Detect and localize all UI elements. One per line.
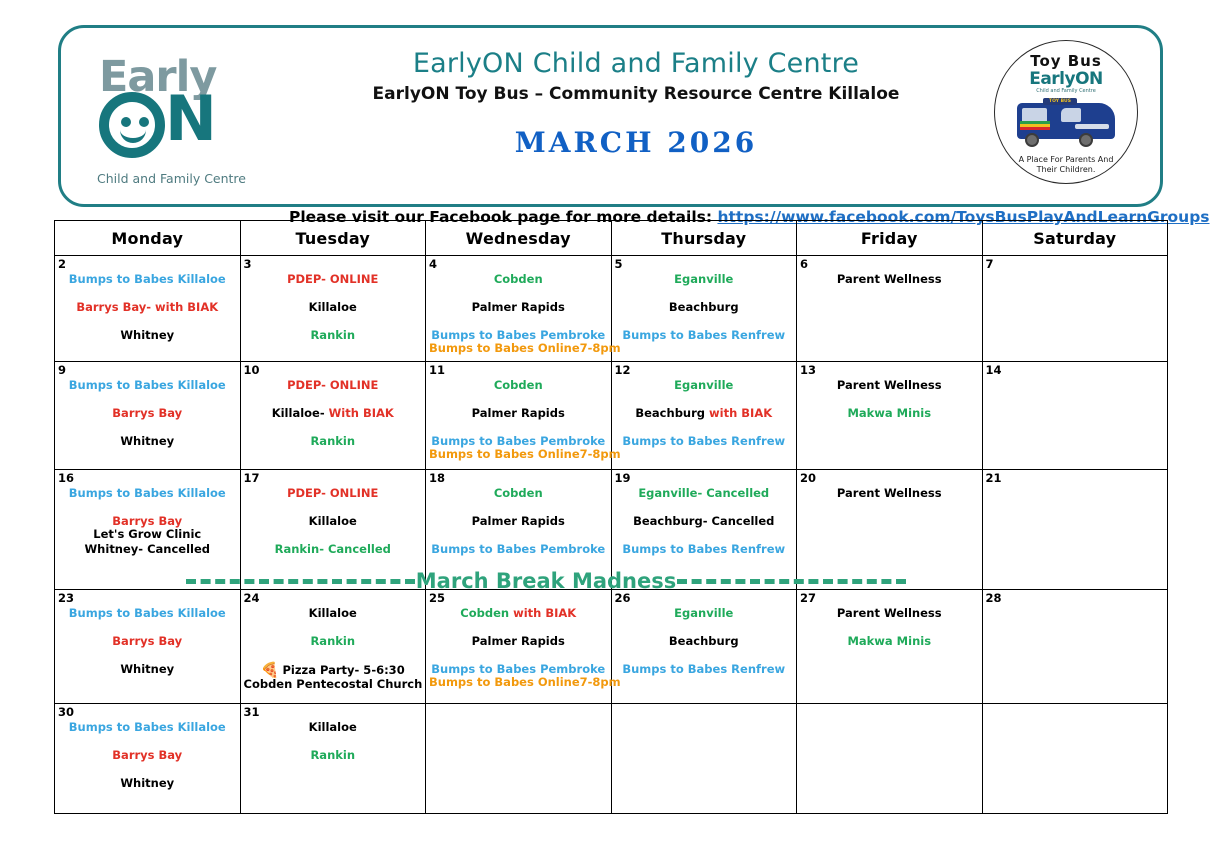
smiley-mouth-icon [120, 124, 146, 143]
calendar-event[interactable]: Parent Wellness [800, 379, 979, 392]
day-number: 12 [615, 364, 794, 377]
calendar-event[interactable]: Bumps to Babes Renfrew [615, 435, 794, 448]
calendar-event[interactable]: Bumps to Babes Renfrew [615, 329, 794, 342]
calendar-day-cell[interactable]: 28 [982, 590, 1168, 704]
toybus-logo-title: Toy Bus [995, 52, 1137, 70]
calendar-day-cell[interactable]: 7 [982, 256, 1168, 362]
calendar-header-row: MondayTuesdayWednesdayThursdayFridaySatu… [55, 221, 1168, 256]
calendar-event[interactable]: PDEP- ONLINE [244, 273, 423, 286]
calendar-event[interactable]: Killaloe [244, 515, 423, 528]
calendar-event[interactable]: Beachburg [615, 301, 794, 314]
day-events: KillaloeRankin🍕Pizza Party- 5-6:30Cobden… [244, 607, 423, 691]
day-number: 31 [244, 706, 423, 719]
toybus-logo: Toy Bus EarlyON Child and Family Centre … [994, 40, 1138, 184]
calendar-day-cell[interactable]: 14 [982, 362, 1168, 470]
calendar-event[interactable]: Palmer Rapids [429, 301, 608, 314]
toybus-logo-footer: A Place For Parents And Their Children. [995, 155, 1137, 175]
event-text-biak: With BIAK [329, 406, 394, 420]
day-number: 13 [800, 364, 979, 377]
toybus-logo-brand: EarlyON [995, 69, 1137, 89]
calendar-event[interactable]: Palmer Rapids [429, 515, 608, 528]
calendar-event[interactable]: Palmer Rapids [429, 635, 608, 648]
day-events: EganvilleBeachburgBumps to Babes Renfrew [615, 607, 794, 676]
calendar-week-row: 2Bumps to Babes KillaloeBarrys Bay- with… [55, 256, 1168, 362]
calendar-day-cell[interactable] [797, 704, 983, 814]
day-number: 2 [58, 258, 237, 271]
month-title: MARCH 2026 [241, 126, 1031, 159]
calendar-event[interactable]: 🍕Pizza Party- 5-6:30 [244, 663, 423, 678]
day-number: 10 [244, 364, 423, 377]
calendar-header-tuesday: Tuesday [240, 221, 426, 256]
day-number: 26 [615, 592, 794, 605]
day-events: Parent Wellness [800, 487, 979, 500]
calendar-event[interactable]: Cobden [429, 487, 608, 500]
calendar-day-cell[interactable]: 18CobdenPalmer RapidsBumps to Babes Pemb… [426, 470, 612, 590]
calendar-day-cell[interactable]: 25Cobden with BIAKPalmer RapidsBumps to … [426, 590, 612, 704]
calendar-event[interactable]: Cobden [429, 379, 608, 392]
calendar-day-cell[interactable]: 27Parent WellnessMakwa Minis [797, 590, 983, 704]
day-number: 28 [986, 592, 1165, 605]
calendar-day-cell[interactable]: 3PDEP- ONLINEKillaloeRankin [240, 256, 426, 362]
calendar-event[interactable]: Bumps to Babes Pembroke [429, 543, 608, 556]
day-number: 16 [58, 472, 237, 485]
day-number: 14 [986, 364, 1165, 377]
logo-tagline: Child and Family Centre [97, 171, 246, 186]
calendar-day-cell[interactable]: 2Bumps to Babes KillaloeBarrys Bay- with… [55, 256, 241, 362]
calendar-week-row: 16Bumps to Babes KillaloeBarrys BayLet's… [55, 470, 1168, 590]
event-text-biak: with BIAK [709, 406, 772, 420]
calendar-header-saturday: Saturday [982, 221, 1168, 256]
day-number: 25 [429, 592, 608, 605]
calendar-event[interactable]: Beachburg [615, 635, 794, 648]
calendar-event[interactable]: Whitney [58, 329, 237, 342]
page-subtitle: EarlyON Toy Bus – Community Resource Cen… [241, 82, 1031, 106]
calendar-event[interactable]: Bumps to Babes Online7-8pm [429, 676, 608, 689]
calendar-event[interactable]: Bumps to Babes Killaloe [58, 487, 237, 500]
calendar-event[interactable]: Eganville [615, 607, 794, 620]
calendar-event[interactable]: Bumps to Babes Killaloe [58, 273, 237, 286]
calendar-table: MondayTuesdayWednesdayThursdayFridaySatu… [54, 220, 1168, 814]
calendar-day-cell[interactable]: 24KillaloeRankin🍕Pizza Party- 5-6:30Cobd… [240, 590, 426, 704]
event-text-main: Cobden [460, 606, 513, 620]
day-events: CobdenPalmer RapidsBumps to Babes Pembro… [429, 273, 608, 355]
calendar-event[interactable]: Rankin- Cancelled [244, 543, 423, 556]
day-number: 24 [244, 592, 423, 605]
title-block: EarlyON Child and Family Centre EarlyON … [241, 48, 1031, 159]
calendar-event[interactable]: Killaloe [244, 607, 423, 620]
calendar-event[interactable]: Beachburg- Cancelled [615, 515, 794, 528]
day-events: PDEP- ONLINEKillaloeRankin [244, 273, 423, 342]
bus-stripe-red [1020, 127, 1050, 130]
day-events: Parent WellnessMakwa Minis [800, 607, 979, 648]
calendar-event[interactable]: Cobden Pentecostal Church [244, 678, 423, 691]
calendar-day-cell[interactable]: 13Parent WellnessMakwa Minis [797, 362, 983, 470]
calendar-event[interactable]: Eganville [615, 273, 794, 286]
calendar-day-cell[interactable]: 17PDEP- ONLINEKillaloeRankin- Cancelled [240, 470, 426, 590]
calendar-day-cell[interactable]: 12EganvilleBeachburg with BIAKBumps to B… [611, 362, 797, 470]
calendar-event[interactable]: Rankin [244, 435, 423, 448]
calendar-event[interactable]: Killaloe [244, 301, 423, 314]
calendar-day-cell[interactable]: 21 [982, 470, 1168, 590]
toybus-logo-caption: Child and Family Centre [995, 88, 1137, 94]
day-events: Parent Wellness [800, 273, 979, 286]
event-text-main: Killaloe- [272, 406, 329, 420]
toybus-footer-line1: A Place For Parents And [995, 155, 1137, 165]
calendar-week-row: 30Bumps to Babes KillaloeBarrys BayWhitn… [55, 704, 1168, 814]
day-number: 11 [429, 364, 608, 377]
calendar-event[interactable]: Barrys Bay [58, 749, 237, 762]
calendar-day-cell[interactable]: 9Bumps to Babes KillaloeBarrys BayWhitne… [55, 362, 241, 470]
calendar-event[interactable]: Barrys Bay- with BIAK [58, 301, 237, 314]
calendar-event[interactable]: Cobden with BIAK [429, 607, 608, 620]
calendar-event[interactable]: Whitney- Cancelled [58, 543, 237, 556]
day-events: Cobden with BIAKPalmer RapidsBumps to Ba… [429, 607, 608, 689]
calendar-event[interactable]: Bumps to Babes Renfrew [615, 663, 794, 676]
calendar-event[interactable]: Rankin [244, 749, 423, 762]
day-events: Eganville- CancelledBeachburg- Cancelled… [615, 487, 794, 556]
bus-roof-sign: TOY BUS [1043, 98, 1077, 105]
bus-wheel-front [1079, 133, 1093, 147]
calendar-event[interactable]: Eganville [615, 379, 794, 392]
day-number: 5 [615, 258, 794, 271]
calendar-event[interactable]: Barrys Bay [58, 635, 237, 648]
day-number: 23 [58, 592, 237, 605]
day-events: EganvilleBeachburg with BIAKBumps to Bab… [615, 379, 794, 448]
calendar-day-cell[interactable] [611, 704, 797, 814]
calendar-day-cell[interactable]: 30Bumps to Babes KillaloeBarrys BayWhitn… [55, 704, 241, 814]
bus-bumper [1075, 124, 1109, 129]
calendar-event[interactable]: Rankin [244, 329, 423, 342]
calendar-header-thursday: Thursday [611, 221, 797, 256]
calendar-day-cell[interactable]: 5EganvilleBeachburgBumps to Babes Renfre… [611, 256, 797, 362]
day-number: 17 [244, 472, 423, 485]
calendar-event[interactable]: Whitney [58, 777, 237, 790]
day-events: KillaloeRankin [244, 721, 423, 762]
calendar-event[interactable]: Whitney [58, 435, 237, 448]
day-events: Bumps to Babes KillaloeBarrys Bay- with … [58, 273, 237, 342]
bus-icon: TOY BUS [1013, 97, 1119, 149]
calendar-event[interactable]: Let's Grow Clinic [58, 528, 237, 541]
calendar-event[interactable]: Cobden [429, 273, 608, 286]
calendar-day-cell[interactable]: 4CobdenPalmer RapidsBumps to Babes Pembr… [426, 256, 612, 362]
calendar-day-cell[interactable]: 16Bumps to Babes KillaloeBarrys BayLet's… [55, 470, 241, 590]
day-number: 20 [800, 472, 979, 485]
day-events: PDEP- ONLINEKillaloe- With BIAKRankin [244, 379, 423, 448]
smiley-face-icon [99, 92, 165, 158]
calendar-event[interactable]: Parent Wellness [800, 487, 979, 500]
header-banner: Early N Child and Family Centre EarlyON … [58, 25, 1163, 207]
day-events: Bumps to Babes KillaloeBarrys BayLet's G… [58, 487, 237, 556]
day-number: 7 [986, 258, 1165, 271]
day-number: 30 [58, 706, 237, 719]
calendar-week-row: 9Bumps to Babes KillaloeBarrys BayWhitne… [55, 362, 1168, 470]
day-number: 21 [986, 472, 1165, 485]
day-events: Parent WellnessMakwa Minis [800, 379, 979, 420]
calendar-event[interactable]: Rankin [244, 635, 423, 648]
event-text-biak: with BIAK [513, 606, 576, 620]
calendar-header-monday: Monday [55, 221, 241, 256]
calendar-day-cell[interactable]: 11CobdenPalmer RapidsBumps to Babes Pemb… [426, 362, 612, 470]
pizza-icon: 🍕 [261, 663, 280, 678]
calendar-day-cell[interactable]: 19Eganville- CancelledBeachburg- Cancell… [611, 470, 797, 590]
calendar-event[interactable]: Bumps to Babes Renfrew [615, 543, 794, 556]
toybus-footer-line2: Their Children. [995, 165, 1137, 175]
calendar-event[interactable]: PDEP- ONLINE [244, 379, 423, 392]
calendar-event[interactable]: PDEP- ONLINE [244, 487, 423, 500]
day-events: PDEP- ONLINEKillaloeRankin- Cancelled [244, 487, 423, 556]
day-events: Bumps to Babes KillaloeBarrys BayWhitney [58, 379, 237, 448]
day-events: CobdenPalmer RapidsBumps to Babes Pembro… [429, 379, 608, 461]
calendar-event[interactable]: Killaloe [244, 721, 423, 734]
calendar-day-cell[interactable] [426, 704, 612, 814]
calendar-event[interactable]: Beachburg with BIAK [615, 407, 794, 420]
calendar-event[interactable]: Whitney [58, 663, 237, 676]
logo-n-letter: N [165, 88, 217, 150]
page-title: EarlyON Child and Family Centre [241, 48, 1031, 80]
calendar-day-cell[interactable]: 23Bumps to Babes KillaloeBarrys BayWhitn… [55, 590, 241, 704]
calendar-body: 2Bumps to Babes KillaloeBarrys Bay- with… [55, 256, 1168, 814]
calendar-day-cell[interactable]: 6Parent Wellness [797, 256, 983, 362]
bus-window-front [1061, 108, 1081, 122]
calendar-event[interactable]: Bumps to Babes Online7-8pm [429, 448, 608, 461]
calendar-day-cell[interactable]: 31KillaloeRankin [240, 704, 426, 814]
calendar-event[interactable]: Bumps to Babes Killaloe [58, 607, 237, 620]
calendar-event[interactable]: Bumps to Babes Online7-8pm [429, 342, 608, 355]
calendar-event[interactable]: Palmer Rapids [429, 407, 608, 420]
calendar-event[interactable]: Bumps to Babes Killaloe [58, 379, 237, 392]
calendar-event[interactable]: Killaloe- With BIAK [244, 407, 423, 420]
event-text: Pizza Party- 5-6:30 [282, 664, 404, 677]
calendar-day-cell[interactable]: 26EganvilleBeachburgBumps to Babes Renfr… [611, 590, 797, 704]
day-events: Bumps to Babes KillaloeBarrys BayWhitney [58, 607, 237, 676]
event-text-main: Beachburg [635, 406, 709, 420]
day-number: 4 [429, 258, 608, 271]
calendar-event[interactable]: Barrys Bay [58, 407, 237, 420]
day-number: 18 [429, 472, 608, 485]
calendar-day-cell[interactable] [982, 704, 1168, 814]
day-number: 6 [800, 258, 979, 271]
calendar-event[interactable]: Parent Wellness [800, 273, 979, 286]
bus-wheel-rear [1025, 133, 1039, 147]
calendar-event[interactable]: Makwa Minis [800, 407, 979, 420]
calendar-header-friday: Friday [797, 221, 983, 256]
day-number: 19 [615, 472, 794, 485]
calendar-event[interactable]: Bumps to Babes Killaloe [58, 721, 237, 734]
day-number: 3 [244, 258, 423, 271]
calendar-week-row: 23Bumps to Babes KillaloeBarrys BayWhitn… [55, 590, 1168, 704]
calendar-header-wednesday: Wednesday [426, 221, 612, 256]
calendar-event[interactable]: Parent Wellness [800, 607, 979, 620]
calendar-event[interactable]: Makwa Minis [800, 635, 979, 648]
day-number: 27 [800, 592, 979, 605]
calendar-event[interactable]: Eganville- Cancelled [615, 487, 794, 500]
calendar-day-cell[interactable]: 20Parent Wellness [797, 470, 983, 590]
day-number: 9 [58, 364, 237, 377]
day-events: CobdenPalmer RapidsBumps to Babes Pembro… [429, 487, 608, 556]
calendar-day-cell[interactable]: 10PDEP- ONLINEKillaloe- With BIAKRankin [240, 362, 426, 470]
day-events: EganvilleBeachburgBumps to Babes Renfrew [615, 273, 794, 342]
day-events: Bumps to Babes KillaloeBarrys BayWhitney [58, 721, 237, 790]
bus-roof-sign-text: TOY BUS [1043, 98, 1077, 105]
